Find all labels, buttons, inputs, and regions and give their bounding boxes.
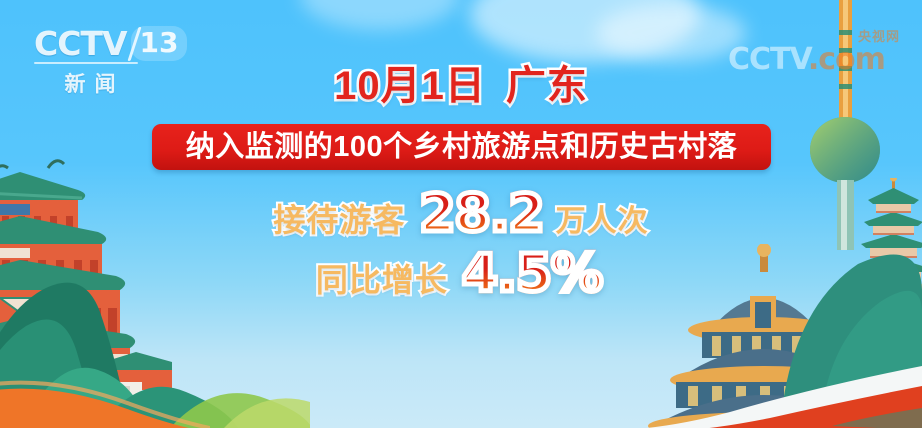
- headline-region: 广东: [506, 64, 588, 108]
- subtitle-banner: 纳入监测的100个乡村旅游点和历史古村落: [152, 124, 771, 170]
- stat-row: 同比增长 4.5%: [0, 248, 922, 300]
- subtitle-banner-text: 纳入监测的100个乡村旅游点和历史古村落: [186, 133, 737, 162]
- red-white-ribbon: [520, 356, 922, 428]
- stat-unit: 万人次: [556, 207, 649, 237]
- stat-value: 28.2: [419, 188, 543, 240]
- orange-ribbon: [0, 362, 210, 428]
- page-title: 10月1日广东: [0, 66, 922, 106]
- headline-date: 10月1日: [334, 64, 486, 108]
- stat-value: 4.5%: [462, 248, 602, 300]
- stat-label: 接待游客: [273, 204, 405, 236]
- broadcast-graphic: CCTV 13 新闻 央视网 CCTV.com 10月1日广东 纳入监测的100…: [0, 0, 922, 428]
- cctv-wordmark: CCTV: [34, 27, 127, 60]
- stat-label: 同比增长: [316, 264, 448, 296]
- statistics-group: 接待游客 28.2 万人次 同比增长 4.5%: [0, 188, 922, 300]
- stat-row: 接待游客 28.2 万人次: [0, 188, 922, 240]
